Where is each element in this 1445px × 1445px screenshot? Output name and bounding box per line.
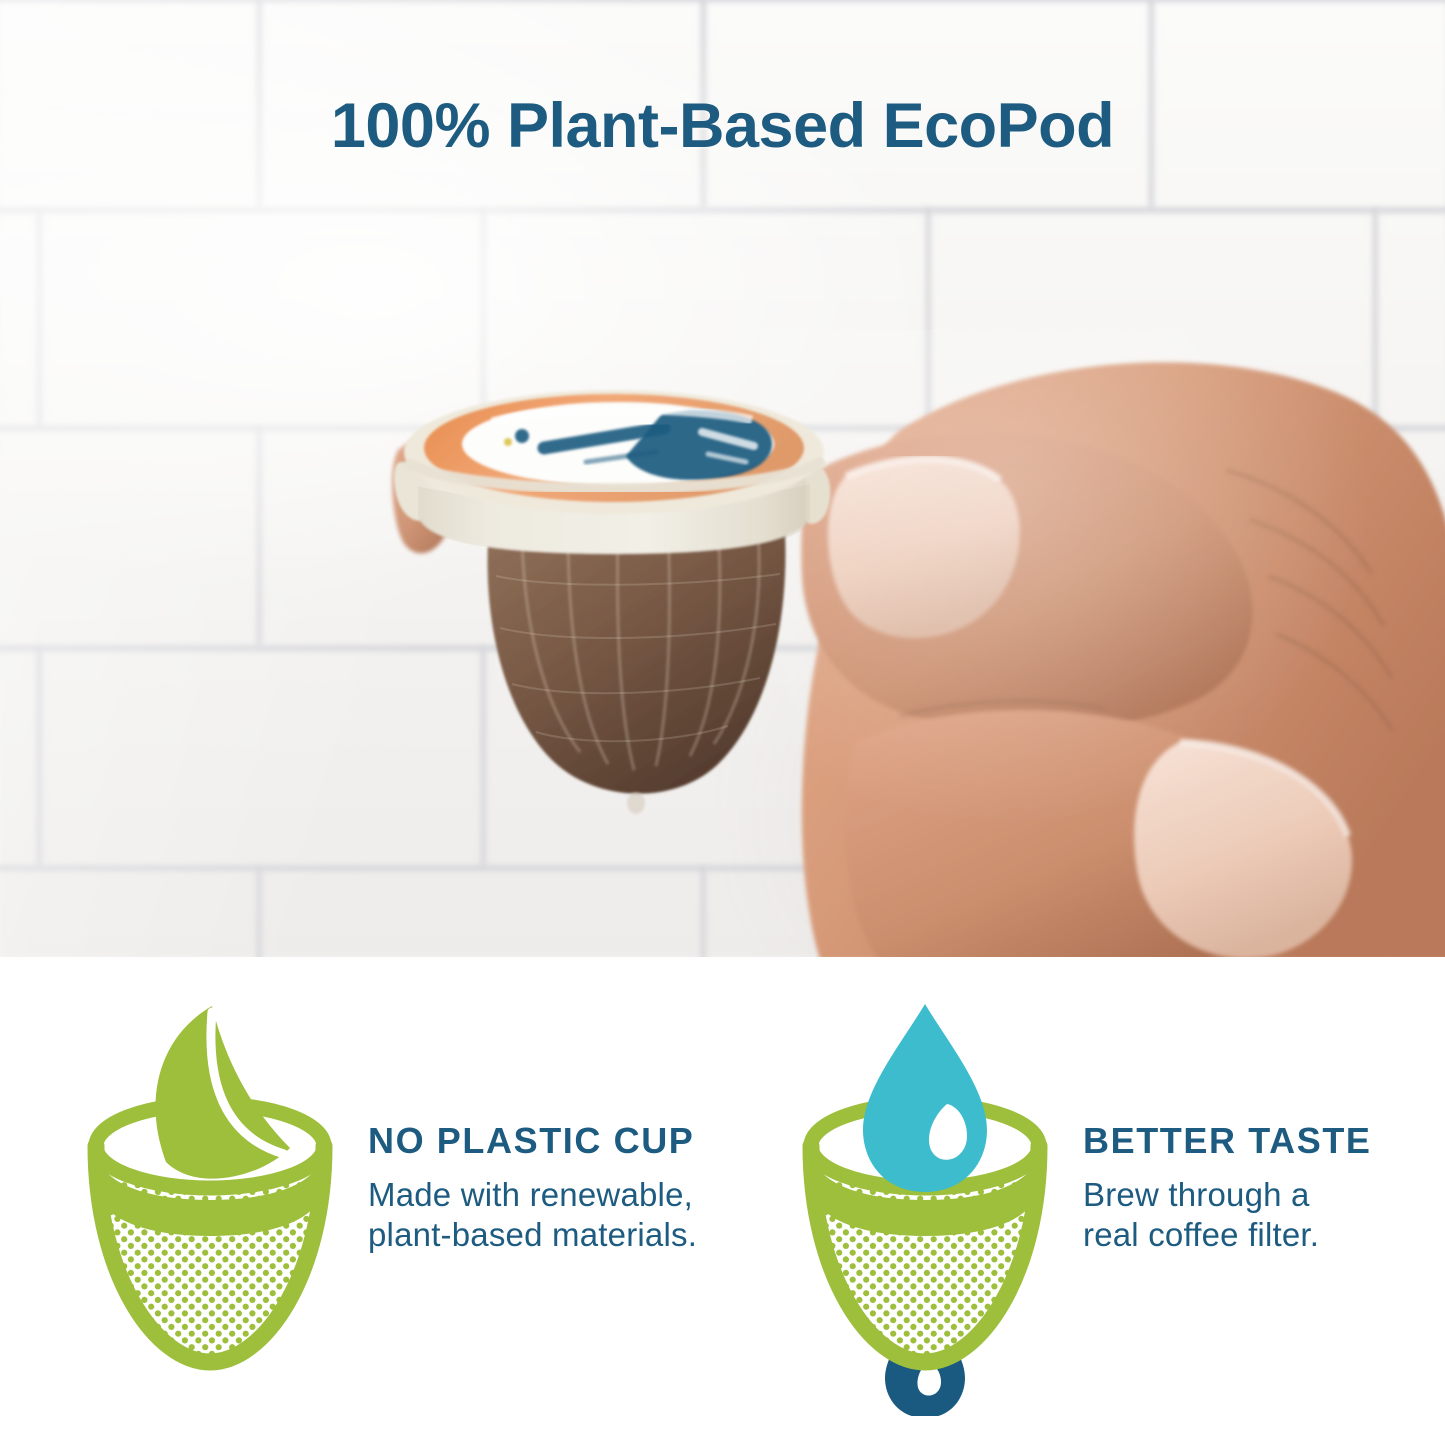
ecopod-product-graphic: 100% Plant-Based EcoPod	[0, 0, 1445, 1445]
feature-text-block: BETTER TASTE Brew through a real coffee …	[1075, 1121, 1445, 1255]
feature-text-block: NO PLASTIC CUP Made with renewable, plan…	[360, 1121, 760, 1255]
feature-band: NO PLASTIC CUP Made with renewable, plan…	[0, 957, 1445, 1445]
feature-description: Brew through a real coffee filter.	[1083, 1175, 1445, 1256]
feature-no-plastic-cup: NO PLASTIC CUP Made with renewable, plan…	[60, 957, 760, 1445]
page-title: 100% Plant-Based EcoPod	[0, 95, 1445, 158]
feature-title: BETTER TASTE	[1083, 1121, 1445, 1161]
feature-description-line: Made with renewable,	[368, 1175, 760, 1215]
water-drop-filter-basket-icon	[775, 986, 1075, 1416]
ecopod-coffee-pod	[372, 366, 992, 816]
feature-description-line: Brew through a	[1083, 1175, 1445, 1215]
feature-description: Made with renewable, plant-based materia…	[368, 1175, 760, 1256]
feature-description-line: plant-based materials.	[368, 1215, 760, 1255]
feature-title: NO PLASTIC CUP	[368, 1121, 760, 1161]
water-drop-icon	[863, 1004, 987, 1192]
feature-description-line: real coffee filter.	[1083, 1215, 1445, 1255]
feature-better-taste: BETTER TASTE Brew through a real coffee …	[775, 957, 1445, 1445]
product-photo: 100% Plant-Based EcoPod	[0, 0, 1445, 957]
leaf-filter-basket-icon	[60, 986, 360, 1416]
